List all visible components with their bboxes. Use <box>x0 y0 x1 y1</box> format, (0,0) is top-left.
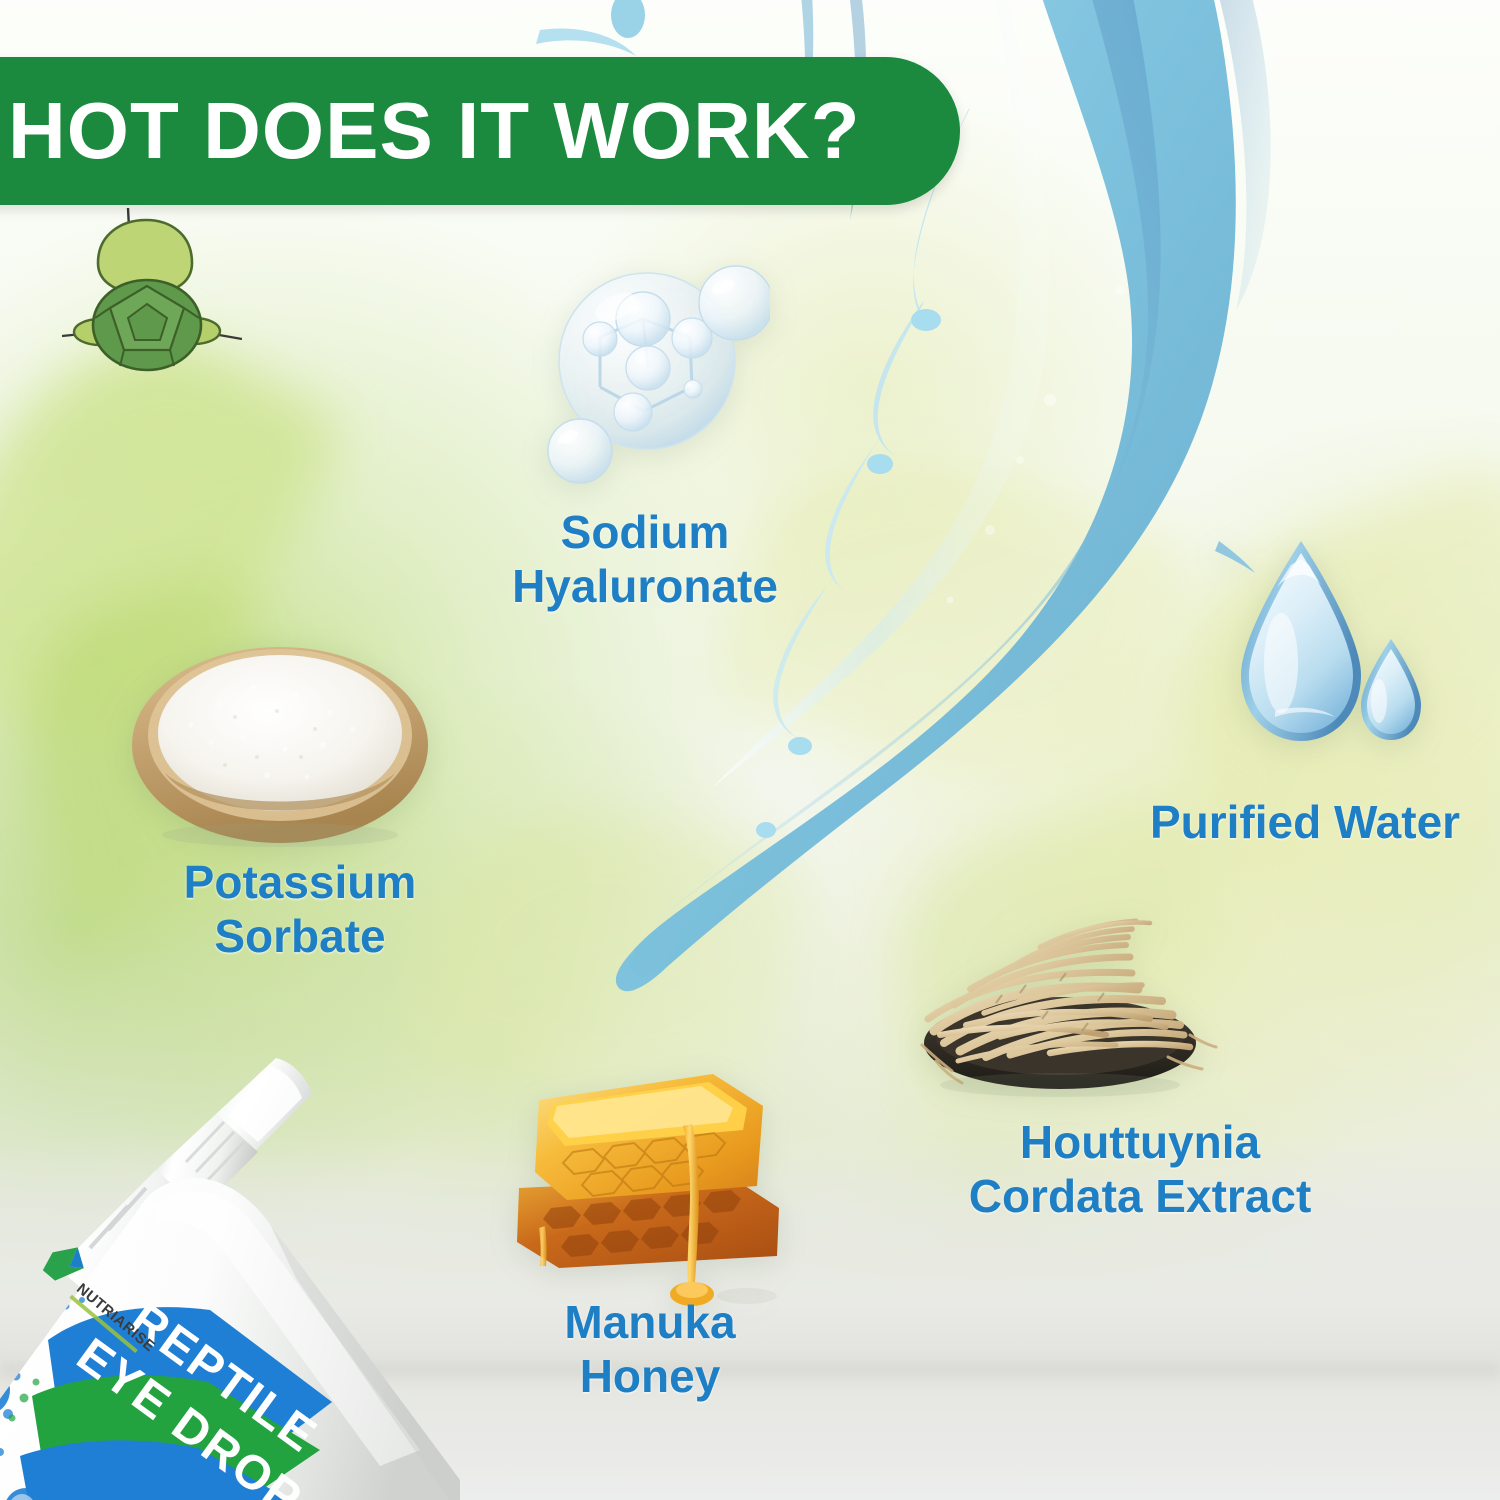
product-bottle: REPTILE EYE DROP NUTRIARISE <box>0 1010 460 1500</box>
molecule-bubble-icon <box>540 255 770 485</box>
ingredient-label-potassium-sorbate: Potassium Sorbate <box>120 855 480 964</box>
ingredient-label-line: Hyaluronate <box>455 559 835 613</box>
infographic-canvas: HOT DOES IT WORK? <box>0 0 1500 1500</box>
ingredient-label-sodium-hyaluronate: Sodium Hyaluronate <box>455 505 835 614</box>
ingredient-label-line: Potassium <box>120 855 480 909</box>
turtle-icon <box>62 208 242 383</box>
ingredient-label-manuka-honey: Manuka Honey <box>490 1295 810 1404</box>
title-banner: HOT DOES IT WORK? <box>0 57 960 205</box>
wooden-bowl-powder-icon <box>125 625 435 850</box>
ingredient-label-line: Sorbate <box>120 909 480 963</box>
ingredient-label-purified-water: Purified Water <box>1095 795 1500 849</box>
ingredient-label-line: Sodium <box>455 505 835 559</box>
page-title: HOT DOES IT WORK? <box>8 85 861 177</box>
honeycomb-icon <box>495 1060 795 1310</box>
ingredient-label-line: Cordata Extract <box>930 1169 1350 1223</box>
dried-roots-plate-icon <box>900 885 1220 1100</box>
ingredient-label-line: Honey <box>490 1349 810 1403</box>
ingredient-label-line: Houttuynia <box>930 1115 1350 1169</box>
ingredient-label-line: Purified Water <box>1095 795 1500 849</box>
water-droplet-icon <box>1215 535 1445 770</box>
ingredient-label-line: Manuka <box>490 1295 810 1349</box>
ingredient-label-houttuynia-cordata-extract: Houttuynia Cordata Extract <box>930 1115 1350 1224</box>
